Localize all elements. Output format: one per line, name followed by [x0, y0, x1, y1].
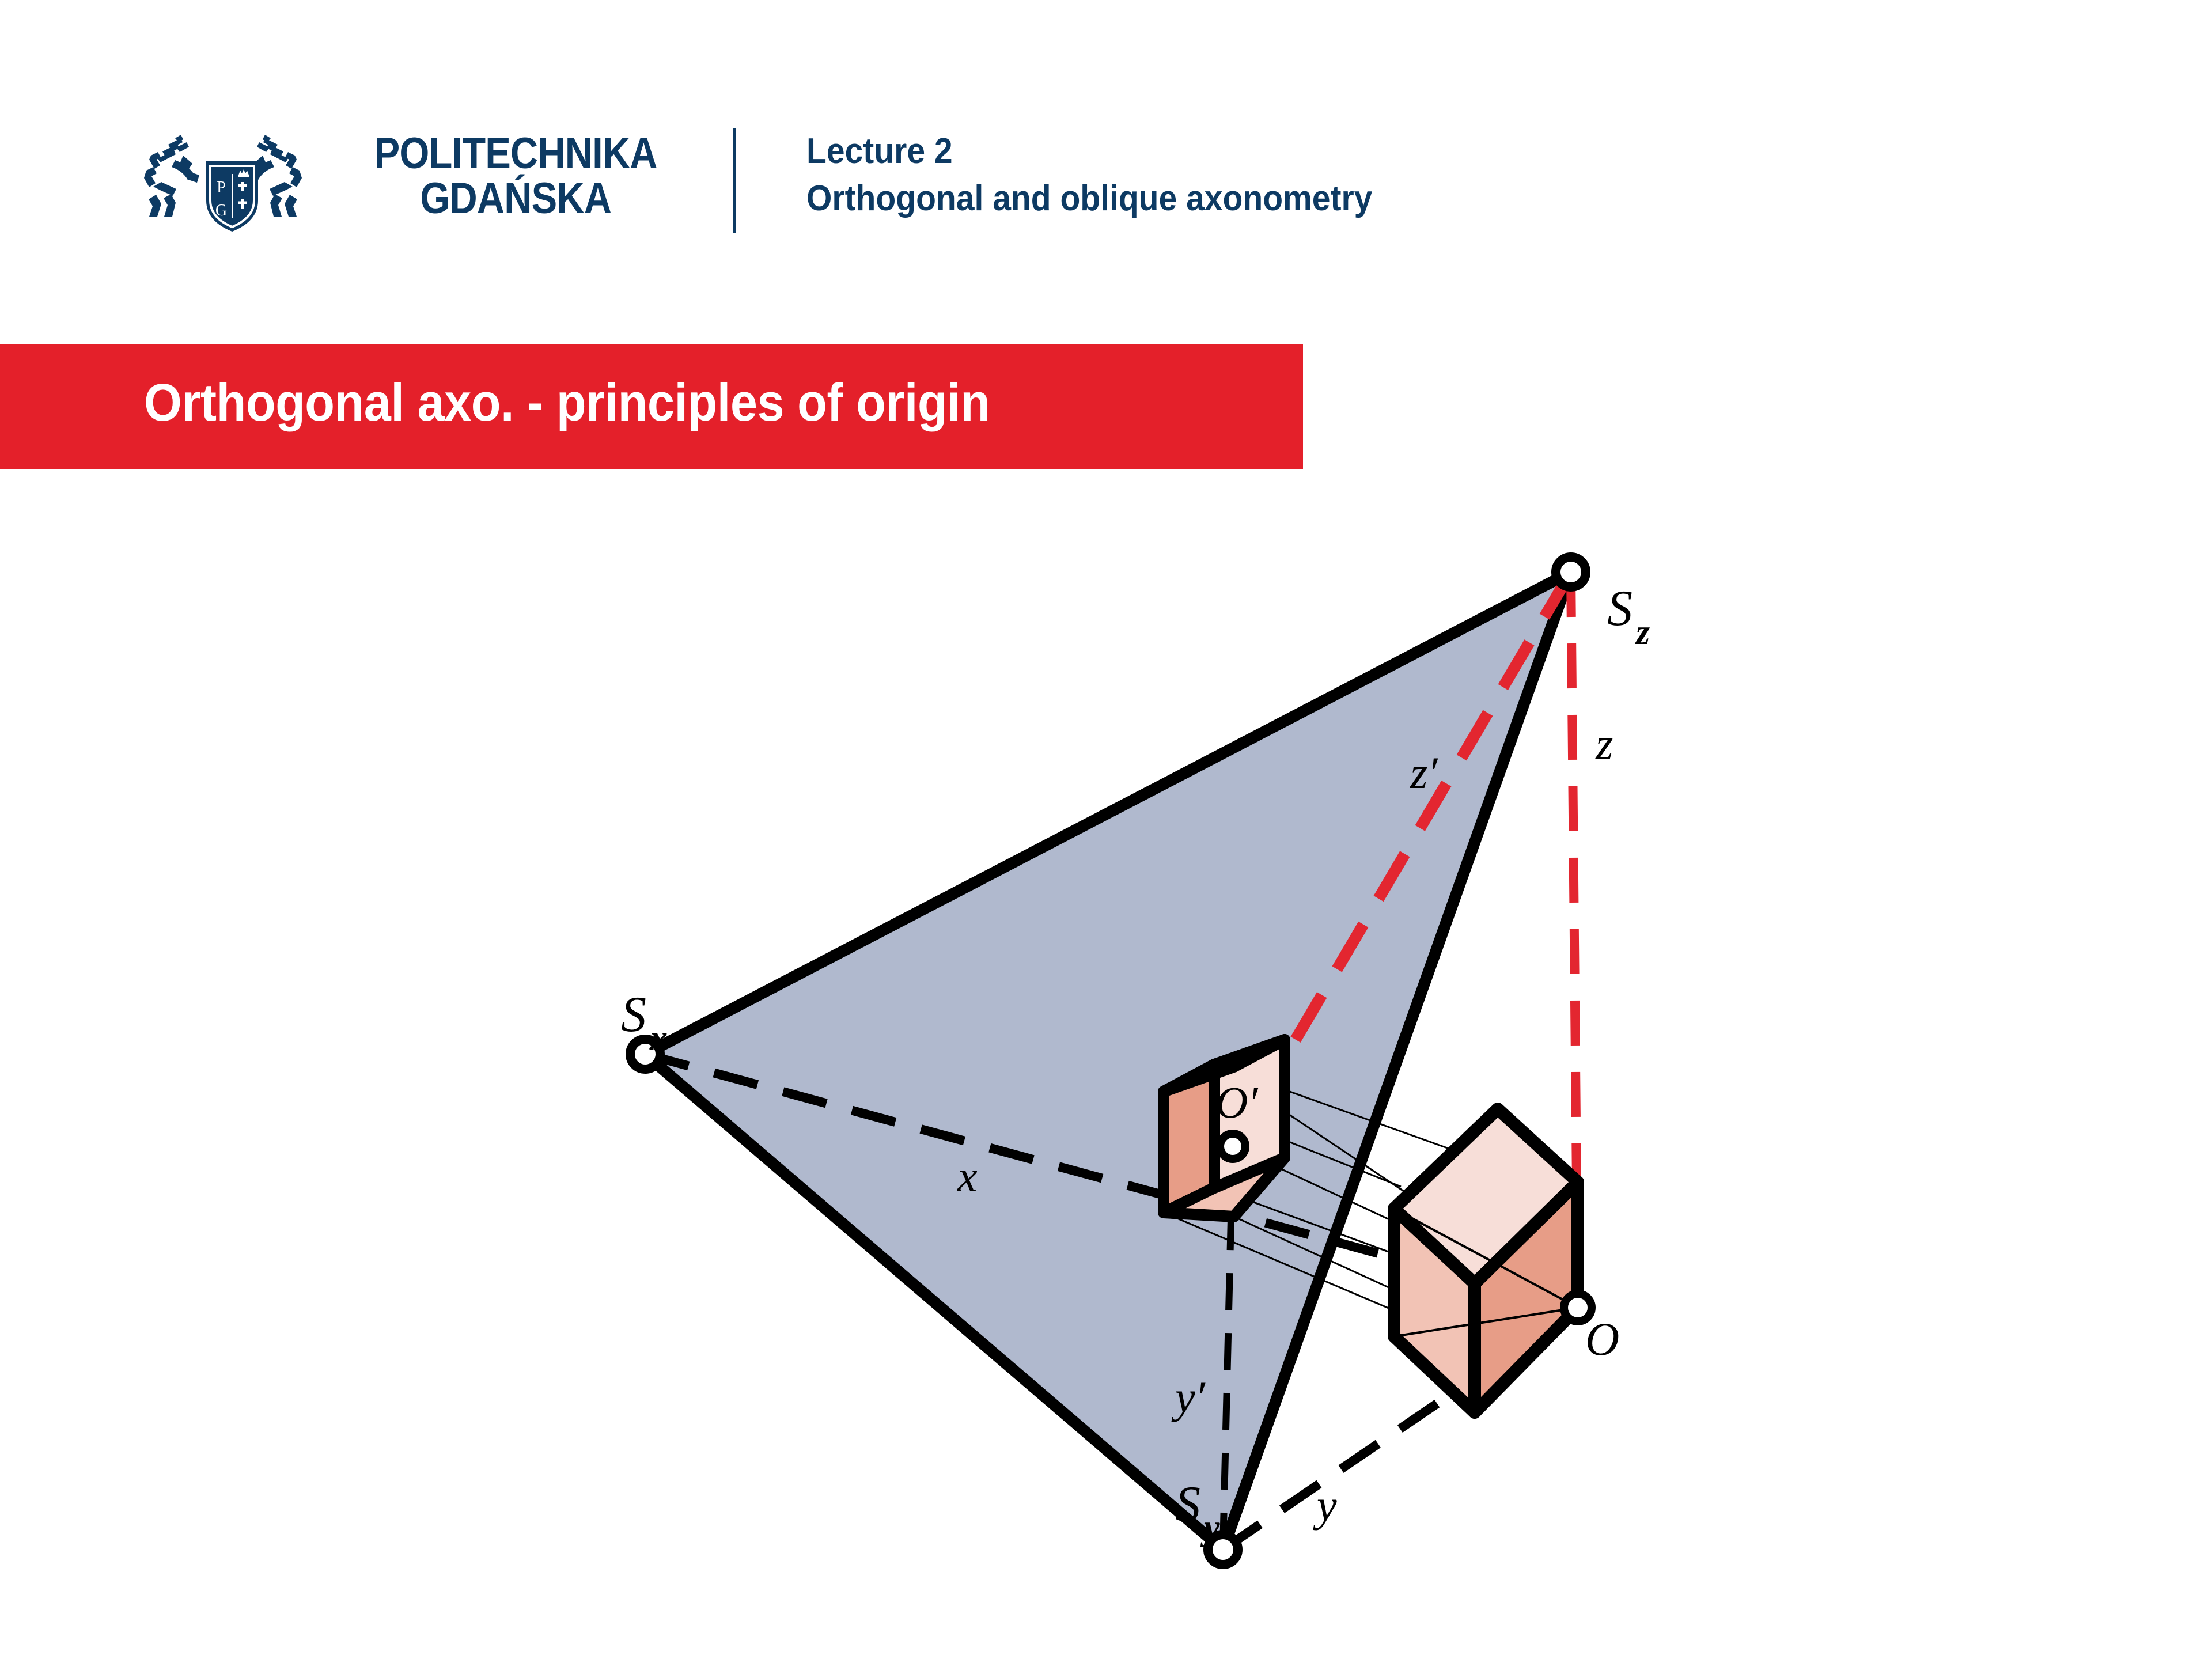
label-z-prime: z′ — [1410, 748, 1438, 798]
label-y: y — [1313, 1480, 1337, 1531]
label-sy-letter: S — [1175, 1476, 1200, 1532]
label-sx-letter: S — [621, 987, 646, 1043]
label-o: O — [1585, 1313, 1619, 1365]
slide: P G POLITECHNIKA GDAŃSKA Lecture 2 Ortho… — [0, 0, 2212, 1659]
label-x: x — [957, 1151, 978, 1201]
label-sz-letter: S — [1607, 581, 1633, 637]
solid-cube — [1394, 1109, 1578, 1412]
label-sz: S z — [1607, 581, 1650, 652]
axonometry-diagram: S z S x S y z z′ x y y′ O′ O — [0, 0, 2212, 1659]
label-y-prime: y′ — [1171, 1372, 1206, 1422]
label-sz-subscript: z — [1635, 613, 1650, 652]
label-z: z — [1595, 719, 1613, 769]
point-o-prime — [1220, 1134, 1245, 1159]
label-sx-subscript: x — [649, 1018, 668, 1058]
label-o-prime: O′ — [1215, 1077, 1259, 1127]
point-sz — [1556, 557, 1586, 587]
